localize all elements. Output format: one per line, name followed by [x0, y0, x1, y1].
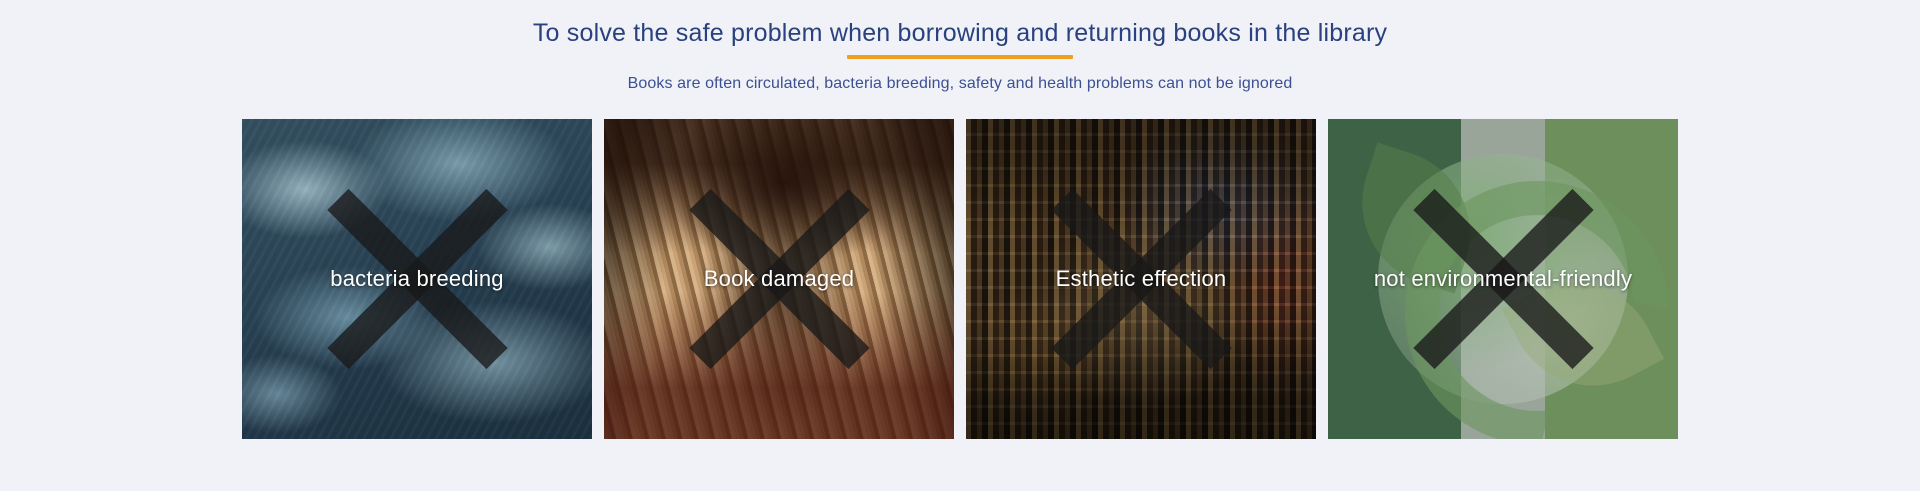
promo-section: To solve the safe problem when borrowing… [0, 0, 1920, 491]
card-label: bacteria breeding [242, 266, 592, 292]
section-heading: To solve the safe problem when borrowing… [0, 0, 1920, 93]
problem-card-not-environmental-friendly[interactable]: not environmental-friendly [1328, 119, 1678, 439]
card-label: not environmental-friendly [1328, 266, 1678, 292]
title-underline-rule [847, 55, 1073, 59]
problem-card-esthetic-effection[interactable]: Esthetic effection [966, 119, 1316, 439]
page-title: To solve the safe problem when borrowing… [0, 18, 1920, 49]
section-subtitle: Books are often circulated, bacteria bre… [0, 75, 1920, 93]
card-label: Book damaged [604, 266, 954, 292]
problem-card-book-damaged[interactable]: Book damaged [604, 119, 954, 439]
problem-card-list: bacteria breeding Book damaged Esthetic … [0, 119, 1920, 439]
problem-card-bacteria-breeding[interactable]: bacteria breeding [242, 119, 592, 439]
card-label: Esthetic effection [966, 266, 1316, 292]
